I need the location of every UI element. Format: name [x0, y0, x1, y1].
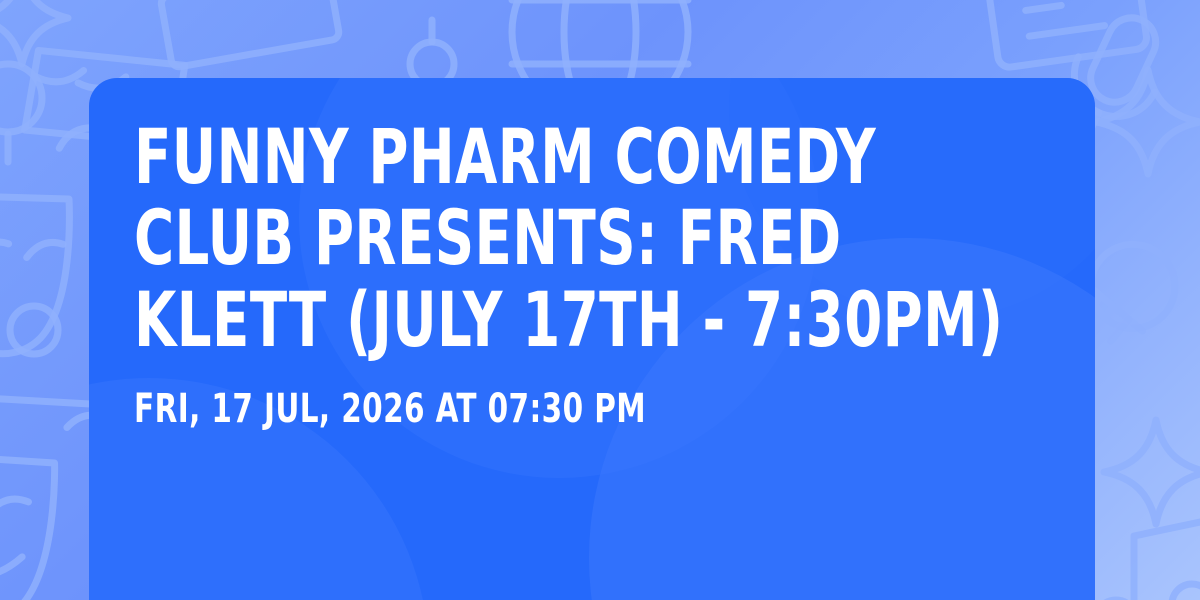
event-card[interactable]: Funny Pharm Comedy Club Presents: Fred K…	[89, 78, 1095, 600]
event-datetime: Fri, 17 Jul, 2026 at 07:30 PM	[134, 386, 885, 432]
event-banner: Funny Pharm Comedy Club Presents: Fred K…	[0, 0, 1200, 600]
sparkle-icon	[0, 0, 68, 64]
card-content: Funny Pharm Comedy Club Presents: Fred K…	[89, 78, 1095, 432]
calendar-icon	[981, 0, 1148, 69]
sparkle-icon	[1096, 70, 1200, 174]
balloon-icon	[410, 20, 454, 86]
event-title: Funny Pharm Comedy Club Presents: Fred K…	[134, 116, 1046, 360]
balloon-icon	[10, 306, 58, 354]
film-clapper-icon	[150, 0, 340, 68]
music-note-icon	[1096, 520, 1200, 600]
balloon-icon	[0, 64, 42, 162]
theater-masks-icon	[0, 173, 89, 363]
sparkle-icon	[1104, 420, 1200, 524]
